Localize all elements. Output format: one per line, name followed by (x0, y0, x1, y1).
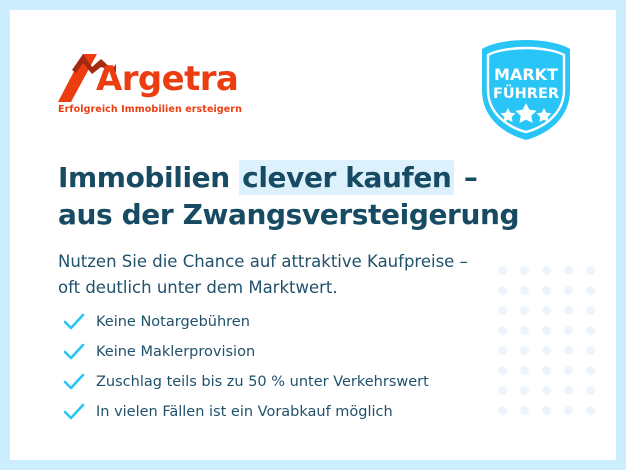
headline-line-1: Immobilien clever kaufen – (58, 159, 519, 196)
page-title: Immobilien clever kaufen – aus der Zwang… (58, 159, 519, 233)
dot (564, 386, 573, 395)
dot (586, 386, 595, 395)
dot (498, 326, 507, 335)
list-item: Keine Notargebühren (62, 307, 429, 337)
dot (586, 286, 595, 295)
dot (564, 286, 573, 295)
headline-highlight: clever kaufen (239, 160, 454, 195)
dot (542, 386, 551, 395)
list-item: Zuschlag teils bis zu 50 % unter Verkehr… (62, 367, 429, 397)
check-icon (62, 402, 86, 422)
dot (542, 346, 551, 355)
list-item: In vielen Fällen ist ein Vorabkauf mögli… (62, 397, 429, 427)
dot-grid-decoration (498, 266, 608, 426)
dot (586, 366, 595, 375)
dot (564, 306, 573, 315)
dot (520, 346, 529, 355)
banner-card: Argetra Erfolgreich Immobilien ersteiger… (10, 10, 616, 460)
dot (564, 366, 573, 375)
subheading-line-2: oft deutlich unter dem Marktwert. (58, 275, 468, 302)
argetra-logo[interactable]: Argetra Erfolgreich Immobilien ersteiger… (58, 50, 258, 115)
check-icon (62, 342, 86, 362)
headline-line-1-post: – (454, 161, 477, 194)
list-item-label: Keine Maklerprovision (96, 345, 255, 360)
dot (586, 406, 595, 415)
dot (564, 326, 573, 335)
dot (520, 386, 529, 395)
dot (542, 326, 551, 335)
dot (542, 306, 551, 315)
badge-line-2: FÜHRER (493, 84, 559, 102)
check-icon (62, 372, 86, 392)
dot (498, 386, 507, 395)
dot (498, 346, 507, 355)
dot (586, 346, 595, 355)
list-item: Keine Maklerprovision (62, 337, 429, 367)
check-icon (62, 312, 86, 332)
dot (520, 286, 529, 295)
dot (520, 266, 529, 275)
dot (542, 266, 551, 275)
list-item-label: Keine Notargebühren (96, 315, 250, 330)
list-item-label: Zuschlag teils bis zu 50 % unter Verkehr… (96, 375, 429, 390)
subheading-line-1: Nutzen Sie die Chance auf attraktive Kau… (58, 249, 468, 276)
dot (586, 266, 595, 275)
logo-row: Argetra (58, 50, 258, 102)
advertisement-banner: Argetra Erfolgreich Immobilien ersteiger… (0, 0, 626, 470)
dot (498, 266, 507, 275)
dot (564, 406, 573, 415)
benefits-checklist: Keine NotargebührenKeine Maklerprovision… (62, 307, 429, 427)
dot (498, 366, 507, 375)
headline-line-1-pre: Immobilien (58, 161, 239, 194)
subheading: Nutzen Sie die Chance auf attraktive Kau… (58, 249, 468, 302)
headline-line-2: aus der Zwangsversteigerung (58, 196, 519, 233)
dot (564, 266, 573, 275)
dot (586, 326, 595, 335)
dot (542, 406, 551, 415)
market-leader-badge: MARKT FÜHRER (478, 38, 574, 142)
logo-wordmark: Argetra (96, 62, 238, 96)
list-item-label: In vielen Fällen ist ein Vorabkauf mögli… (96, 405, 393, 420)
dot (520, 406, 529, 415)
badge-line-1: MARKT (494, 65, 558, 84)
dot (498, 306, 507, 315)
dot (498, 406, 507, 415)
dot (520, 326, 529, 335)
dot (542, 366, 551, 375)
dot (564, 346, 573, 355)
dot (542, 286, 551, 295)
dot (520, 306, 529, 315)
dot (520, 366, 529, 375)
dot (498, 286, 507, 295)
logo-tagline: Erfolgreich Immobilien ersteigern (58, 104, 258, 115)
dot (586, 306, 595, 315)
